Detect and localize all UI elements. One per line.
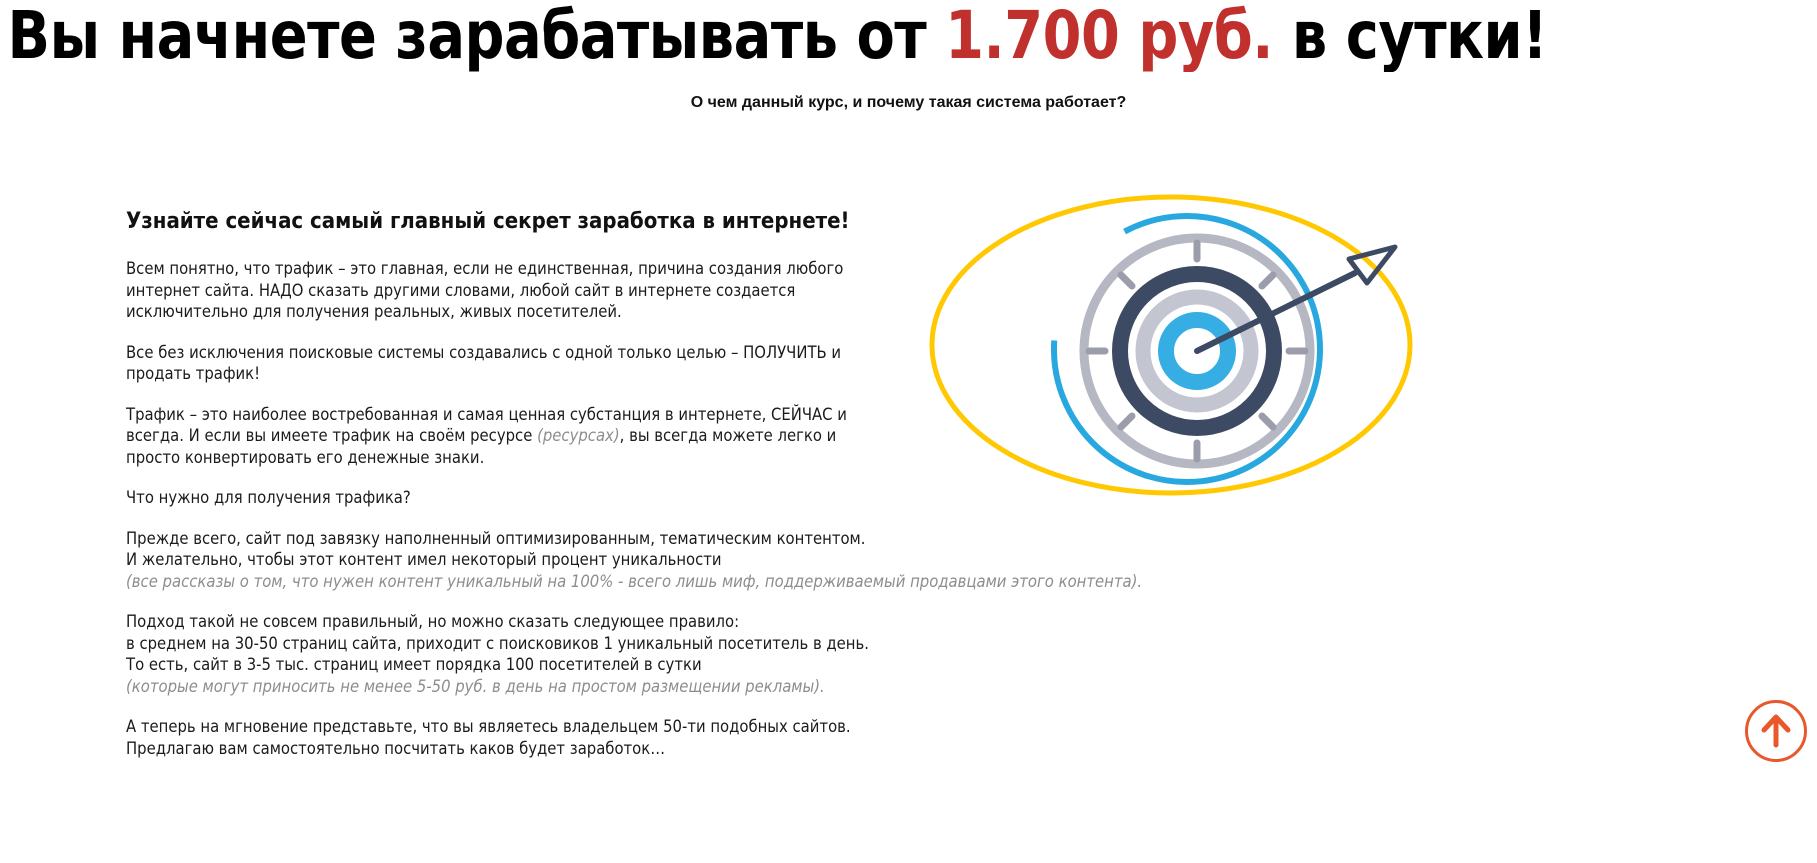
paragraph-line: интернет сайта. НАДО сказать другими сло… <box>126 281 795 300</box>
paragraph-text: всегда. И если вы имеете трафик на своём… <box>126 426 537 445</box>
hero-headline-part1: Вы начнете зарабатывать от <box>8 0 946 72</box>
paragraph: Подход такой не совсем правильный, но мо… <box>126 611 896 697</box>
paragraph: Трафик – это наиболее востребованная и с… <box>126 404 896 469</box>
paragraph: Все без исключения поисковые системы соз… <box>126 342 896 385</box>
paragraph-line: Трафик – это наиболее востребованная и с… <box>126 405 847 424</box>
landing-page-root: Вы начнете зарабатывать от 1.700 руб. в … <box>0 0 1817 863</box>
paragraph-italic-note: (которые могут приносить не менее 5-50 р… <box>126 676 896 698</box>
paragraph: Что нужно для получения трафика? <box>126 487 896 509</box>
paragraph: Прежде всего, сайт под завязку наполненн… <box>126 528 896 593</box>
paragraph-line: исключительно для получения реальных, жи… <box>126 302 622 321</box>
paragraph: А теперь на мгновение представьте, что в… <box>126 716 896 759</box>
paragraph-line: И желательно, чтобы этот контент имел не… <box>126 550 722 569</box>
paragraph-line: А теперь на мгновение представьте, что в… <box>126 717 851 736</box>
paragraph: Всем понятно, что трафик – это главная, … <box>126 258 896 323</box>
hero-headline-accent: 1.700 руб. <box>945 0 1273 72</box>
hero-headline-part2: в сутки! <box>1273 0 1547 72</box>
text-column: Узнайте сейчас самый главный секрет зара… <box>126 208 896 759</box>
paragraph-italic-note: (все рассказы о том, что нужен контент у… <box>126 571 896 593</box>
section-heading: Узнайте сейчас самый главный секрет зара… <box>126 208 896 236</box>
paragraph-line: в среднем на 30-50 страниц сайта, приход… <box>126 634 869 653</box>
scroll-to-top-button[interactable] <box>1745 700 1807 762</box>
target-with-arrow-illustration <box>925 185 1435 515</box>
paragraph-text: , вы всегда можете легко и <box>620 426 837 445</box>
paragraph-line: То есть, сайт в 3-5 тыс. страниц имеет п… <box>126 655 702 674</box>
paragraph-line-with-italic: всегда. И если вы имеете трафик на своём… <box>126 426 836 445</box>
paragraph-line: Подход такой не совсем правильный, но мо… <box>126 612 739 631</box>
paragraph-line: продать трафик! <box>126 364 260 383</box>
paragraph-line: Предлагаю вам самостоятельно посчитать к… <box>126 739 665 758</box>
hero-headline: Вы начнете зарабатывать от 1.700 руб. в … <box>0 0 1817 72</box>
page-subtitle: О чем данный курс, и почему такая систем… <box>0 92 1817 114</box>
paragraph-line: Что нужно для получения трафика? <box>126 488 411 507</box>
paragraph-line: Все без исключения поисковые системы соз… <box>126 343 841 362</box>
paragraph-inline-italic: (ресурсах) <box>537 426 620 445</box>
hero-headline-text: Вы начнете зарабатывать от 1.700 руб. в … <box>0 0 1547 72</box>
content-area: Узнайте сейчас самый главный секрет зара… <box>0 180 1817 863</box>
paragraph-line: Прежде всего, сайт под завязку наполненн… <box>126 529 865 548</box>
paragraph-line: просто конвертировать его денежные знаки… <box>126 448 484 467</box>
paragraph-line: Всем понятно, что трафик – это главная, … <box>126 259 843 278</box>
